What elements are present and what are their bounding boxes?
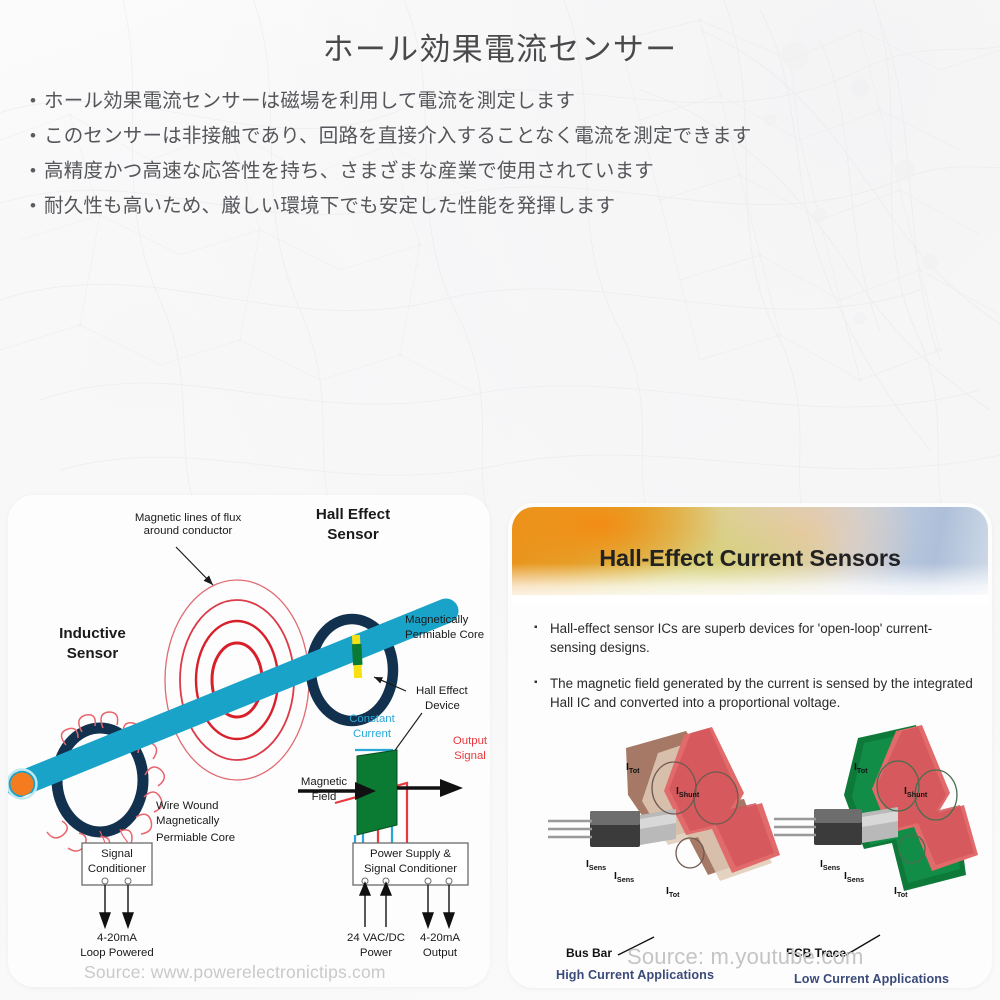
i-tot-label-right-bottom: ITot [894,885,908,899]
i-sens-label-right-bottom: ISens [844,870,864,884]
vac-power-label: 24 VAC/DC Power [341,932,411,963]
constant-current-label: Constant Current [334,713,410,744]
bullet-item-1: • ホール効果電流センサーは磁場を利用して電流を測定します [30,92,890,112]
output-signal-label: Output Signal [442,735,490,766]
i-sens-label-left: ISens [586,858,606,872]
bullet-text-4: 耐久性も高いため、厳しい環境下でも安定した性能を発揮します [44,197,890,217]
i-sens-label-left-bottom: ISens [614,870,634,884]
right-panel-title: Hall-Effect Current Sensors [508,545,992,572]
wire-wound-core-label: Wire Wound Magnetically Permiable Core [156,800,235,847]
square-bullet-icon: ▪ [534,674,550,712]
bullet-item-4: • 耐久性も高いため、厳しい環境下でも安定した性能を発揮します [30,197,890,217]
ma-output-label: 4-20mA Output [408,932,472,963]
signal-conditioner-label: Signal Conditioner [82,848,152,878]
i-tot-label-left-bottom: ITot [666,885,680,899]
bus-bar-label: Bus Bar [566,946,612,960]
high-current-caption: High Current Applications [556,968,714,982]
i-sens-label-right: ISens [820,858,840,872]
inductive-sensor-label: Inductive Sensor [35,625,150,666]
sensor-comparison-diagram [8,495,490,987]
right-bullet-text-2: The magnetic field generated by the curr… [550,674,974,712]
permiable-core-label: Magnetically Permiable Core [405,614,484,644]
right-bullet-1: ▪ Hall-effect sensor ICs are superb devi… [534,619,974,657]
bullet-item-2: • このセンサーは非接触であり、回路を直接介入することなく電流を測定できます [30,127,890,147]
slide-canvas: ホール効果電流センサー • ホール効果電流センサーは磁場を利用して電流を測定しま… [0,0,1000,1000]
hall-effect-sensor-label: Hall Effect Sensor [288,506,418,547]
power-supply-label: Power Supply & Signal Conditioner [353,848,468,878]
i-shunt-label-left: IShunt [676,785,699,799]
low-current-caption: Low Current Applications [794,972,949,986]
page-title: ホール効果電流センサー [0,24,1000,69]
i-tot-label-right-top: ITot [854,761,868,775]
bullet-marker-icon: • [30,92,44,109]
low-current-photo [774,725,978,891]
magnetic-field-label: Magnetic Field [293,776,355,807]
network-mesh-background [0,0,1000,520]
loop-powered-label: 4-20mA Loop Powered [70,932,164,963]
bullet-text-2: このセンサーは非接触であり、回路を直接介入することなく電流を測定できます [44,127,890,147]
right-bullet-2: ▪ The magnetic field generated by the cu… [534,674,974,712]
left-diagram-card: Magnetic lines of flux around conductor … [8,495,490,987]
right-panel-bullets: ▪ Hall-effect sensor ICs are superb devi… [534,619,974,729]
watermark-left: Source: www.powerelectronictips.com [84,962,386,983]
high-current-photo [548,727,780,881]
bullet-text-3: 高精度かつ高速な応答性を持ち、さまざまな産業で使用されています [44,162,890,182]
i-shunt-label-right: IShunt [904,785,927,799]
hall-effect-device-label: Hall Effect Device [416,685,468,715]
watermark-right: Source: m.youtube.com [627,944,864,970]
bullet-list: • ホール効果電流センサーは磁場を利用して電流を測定します • このセンサーは非… [30,92,890,232]
bullet-item-3: • 高精度かつ高速な応答性を持ち、さまざまな産業で使用されています [30,162,890,182]
right-bullet-text-1: Hall-effect sensor ICs are superb device… [550,619,974,657]
flux-label: Magnetic lines of flux around conductor [118,512,258,539]
bullet-marker-icon: • [30,127,44,144]
bullet-text-1: ホール効果電流センサーは磁場を利用して電流を測定します [44,92,890,112]
bullet-marker-icon: • [30,162,44,179]
right-slide-card: Hall-Effect Current Sensors ▪ Hall-effec… [508,503,992,988]
bullet-marker-icon: • [30,197,44,214]
i-tot-label-left-top: ITot [626,761,640,775]
square-bullet-icon: ▪ [534,619,550,657]
